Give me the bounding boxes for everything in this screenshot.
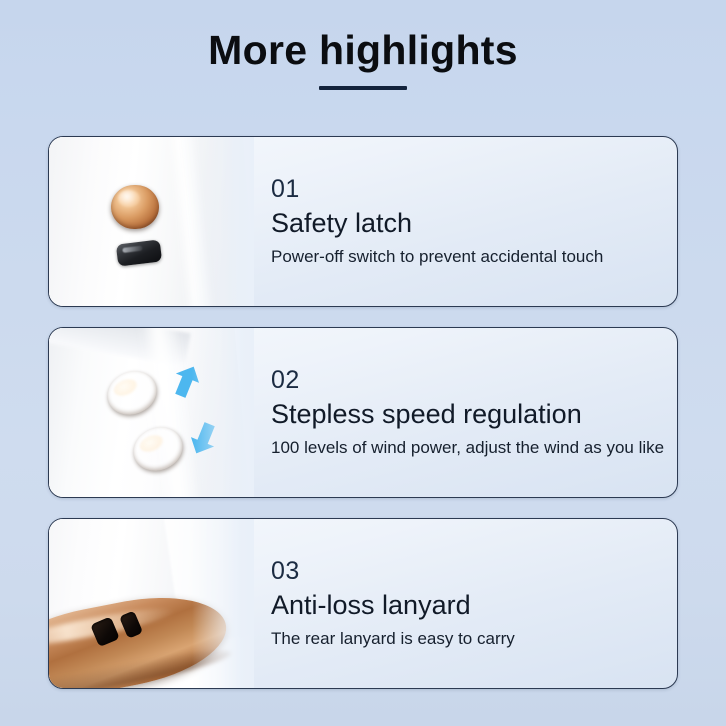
card-number: 02 [271,365,671,396]
card-title: Safety latch [271,206,671,241]
card-description: Power-off switch to prevent accidental t… [271,246,671,269]
highlight-card[interactable]: 02 Stepless speed regulation 100 levels … [48,327,678,498]
card-description: The rear lanyard is easy to carry [271,628,671,651]
card-title: Anti-loss lanyard [271,588,671,623]
card-title: Stepless speed regulation [271,397,671,432]
highlight-card[interactable]: 03 Anti-loss lanyard The rear lanyard is… [48,518,678,689]
product-photo-safety-latch [49,137,254,306]
arrow-down-icon [189,420,223,465]
card-text-pane: 02 Stepless speed regulation 100 levels … [271,328,671,497]
page-header: More highlights [0,0,726,90]
rose-gold-power-button-icon [111,185,159,229]
title-underline [319,86,407,90]
card-number: 01 [271,174,671,205]
arrow-up-icon [167,360,201,405]
highlight-card[interactable]: 01 Safety latch Power-off switch to prev… [48,136,678,307]
card-number: 03 [271,556,671,587]
product-photo-lanyard [49,519,254,688]
page-title: More highlights [0,28,726,74]
card-description: 100 levels of wind power, adjust the win… [271,437,671,460]
card-text-pane: 01 Safety latch Power-off switch to prev… [271,137,671,306]
card-text-pane: 03 Anti-loss lanyard The rear lanyard is… [271,519,671,688]
product-photo-speed-buttons [49,328,254,497]
highlight-cards-list: 01 Safety latch Power-off switch to prev… [48,136,678,689]
